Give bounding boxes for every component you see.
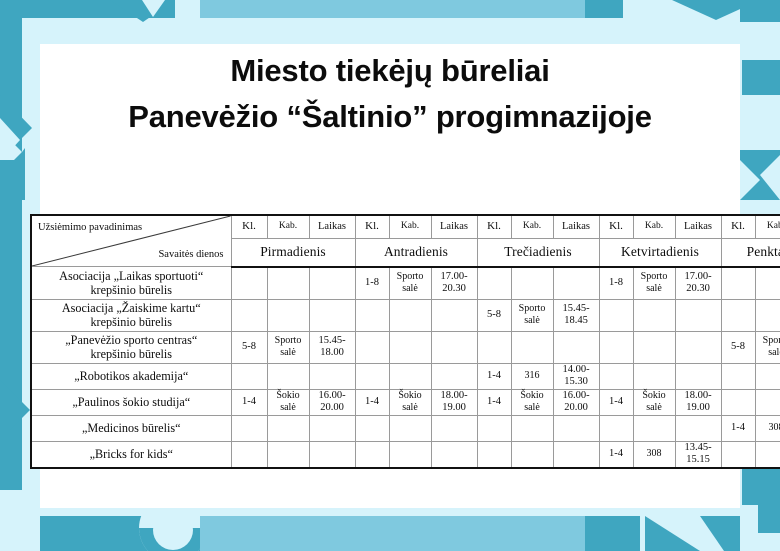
cell-kl-day4 [599, 415, 633, 441]
table-head: Užsiėmimo pavadinimas Savaitės dienos Kl… [31, 215, 780, 267]
title-line-1: Miesto tiekėjų būreliai [40, 48, 740, 94]
time-start: 17.00- [676, 271, 721, 284]
subheader-kab-ketvirtadienis: Kab. [633, 215, 675, 238]
subheader-kab-penktadienis: Kab. [755, 215, 780, 238]
cell-kab-day5: 308 [755, 415, 780, 441]
time-end: 18.45 [554, 315, 599, 328]
table-row: Asociacija „Žaiskime kartu“krepšinio būr… [31, 299, 780, 331]
subheader-kl-treciadienis: Kl. [477, 215, 511, 238]
slide: Miesto tiekėjų būreliai Panevėžio “Šalti… [0, 0, 780, 551]
time-end: 20.30 [676, 283, 721, 296]
cell-kl-day4: 1-8 [599, 267, 633, 300]
cell-kl-day3 [477, 441, 511, 468]
subheader-laikas-antradienis: Laikas [431, 215, 477, 238]
cell-kab-day1 [267, 363, 309, 389]
cell-kab-day4: Šokiosalė [633, 389, 675, 415]
activity-name-line: „Paulinos šokio studija“ [32, 395, 231, 409]
cell-kl-day2 [355, 331, 389, 363]
cell-laikas-day2: 18.00-19.00 [431, 389, 477, 415]
cell-kl-day5: 1-4 [721, 415, 755, 441]
activity-name-line: krepšinio būrelis [32, 315, 231, 329]
cell-kab-day1 [267, 267, 309, 300]
subheader-laikas-ketvirtadienis: Laikas [675, 215, 721, 238]
cell-kl-day5 [721, 299, 755, 331]
time-start: 18.00- [432, 390, 477, 403]
time-end: 15.30 [554, 376, 599, 389]
cell-kab-day5 [755, 389, 780, 415]
cell-laikas-day1 [309, 299, 355, 331]
corner-label-weekdays: Savaitės dienos [158, 249, 223, 261]
cell-kl-day3 [477, 267, 511, 300]
activity-name-line: „Bricks for kids“ [32, 447, 231, 461]
activity-name-line: „Medicinos būrelis“ [32, 421, 231, 435]
time-start: 15.45- [310, 335, 355, 348]
cell-kab-day1 [267, 299, 309, 331]
page-title: Miesto tiekėjų būreliai Panevėžio “Šalti… [40, 48, 740, 140]
room-line: Šokio [268, 390, 309, 403]
cell-laikas-day4: 17.00-20.30 [675, 267, 721, 300]
title-line-2: Panevėžio “Šaltinio” progimnazijoje [40, 94, 740, 140]
activity-name-cell: Asociacija „Laikas sportuoti“krepšinio b… [31, 267, 231, 300]
cell-kl-day1 [231, 415, 267, 441]
cell-kl-day5: 5-8 [721, 331, 755, 363]
activity-name-cell: „Paulinos šokio studija“ [31, 389, 231, 415]
cell-kab-day3 [511, 331, 553, 363]
room-line: Šokio [634, 390, 675, 403]
activity-name-line: Asociacija „Laikas sportuoti“ [32, 269, 231, 283]
cell-kab-day5: Sportosalė [755, 331, 780, 363]
room-line: Sporto [756, 335, 780, 348]
table-row: „Panevėžio sporto centras“krepšinio būre… [31, 331, 780, 363]
room-line: Šokio [390, 390, 431, 403]
cell-laikas-day2: 17.00-20.30 [431, 267, 477, 300]
room-line: salė [268, 402, 309, 415]
subheader-kab-antradienis: Kab. [389, 215, 431, 238]
cell-kab-day4: 308 [633, 441, 675, 468]
subheader-kab-pirmadienis: Kab. [267, 215, 309, 238]
cell-laikas-day1 [309, 363, 355, 389]
cell-kl-day1 [231, 363, 267, 389]
cell-kl-day3 [477, 331, 511, 363]
cell-kl-day4 [599, 363, 633, 389]
cell-kl-day1 [231, 441, 267, 468]
time-end: 20.30 [432, 283, 477, 296]
table-body: Asociacija „Laikas sportuoti“krepšinio b… [31, 267, 780, 468]
cell-kab-day5 [755, 363, 780, 389]
cell-laikas-day3 [553, 441, 599, 468]
cell-kab-day5 [755, 299, 780, 331]
cell-laikas-day4 [675, 415, 721, 441]
cell-kl-day5 [721, 389, 755, 415]
cell-kab-day2 [389, 441, 431, 468]
cell-kab-day3 [511, 415, 553, 441]
cell-kab-day4 [633, 363, 675, 389]
time-end: 15.15 [676, 454, 721, 467]
activity-name-cell: „Panevėžio sporto centras“krepšinio būre… [31, 331, 231, 363]
time-end: 19.00 [676, 402, 721, 415]
cell-kab-day4 [633, 331, 675, 363]
activity-name-cell: „Robotikos akademija“ [31, 363, 231, 389]
cell-laikas-day4 [675, 299, 721, 331]
table-row: „Robotikos akademija“1-431614.00-15.30 [31, 363, 780, 389]
activity-name-cell: „Bricks for kids“ [31, 441, 231, 468]
cell-kab-day2: Sportosalė [389, 267, 431, 300]
cell-kl-day4: 1-4 [599, 441, 633, 468]
cell-kab-day4 [633, 299, 675, 331]
cell-kl-day3: 1-4 [477, 389, 511, 415]
cell-kab-day1: Šokiosalė [267, 389, 309, 415]
room-line: Sporto [268, 335, 309, 348]
room-line: salė [634, 283, 675, 296]
room-line: Sporto [390, 271, 431, 284]
cell-kl-day2 [355, 299, 389, 331]
activity-name-line: krepšinio būrelis [32, 347, 231, 361]
cell-kab-day2 [389, 363, 431, 389]
cell-kl-day1: 1-4 [231, 389, 267, 415]
cell-laikas-day4: 18.00-19.00 [675, 389, 721, 415]
table-row: „Paulinos šokio studija“1-4Šokiosalė16.0… [31, 389, 780, 415]
dayname-antradienis: Antradienis [355, 238, 477, 266]
time-start: 15.45- [554, 303, 599, 316]
subheader-kl-penktadienis: Kl. [721, 215, 755, 238]
dayname-treciadienis: Trečiadienis [477, 238, 599, 266]
cell-kl-day5 [721, 363, 755, 389]
cell-kab-day2 [389, 415, 431, 441]
activity-name-line: „Panevėžio sporto centras“ [32, 333, 231, 347]
subheader-laikas-pirmadienis: Laikas [309, 215, 355, 238]
cell-kl-day2: 1-4 [355, 389, 389, 415]
cell-kl-day2 [355, 415, 389, 441]
cell-kl-day4 [599, 331, 633, 363]
cell-kl-day4: 1-4 [599, 389, 633, 415]
cell-kl-day3 [477, 415, 511, 441]
cell-laikas-day1: 16.00-20.00 [309, 389, 355, 415]
cell-laikas-day4 [675, 363, 721, 389]
cell-laikas-day2 [431, 331, 477, 363]
cell-kab-day3: Sportosalė [511, 299, 553, 331]
cell-kab-day1 [267, 415, 309, 441]
time-start: 17.00- [432, 271, 477, 284]
table-row: „Medicinos būrelis“1-430813.45-15.15 [31, 415, 780, 441]
time-end: 19.00 [432, 402, 477, 415]
subheader-kl-ketvirtadienis: Kl. [599, 215, 633, 238]
cell-kl-day5 [721, 267, 755, 300]
cell-kab-day3 [511, 441, 553, 468]
cell-kab-day3: Šokiosalė [511, 389, 553, 415]
cell-laikas-day3 [553, 331, 599, 363]
cell-laikas-day2 [431, 441, 477, 468]
time-start: 16.00- [554, 390, 599, 403]
cell-kab-day3: 316 [511, 363, 553, 389]
cell-laikas-day3: 15.45-18.45 [553, 299, 599, 331]
cell-kl-day2 [355, 363, 389, 389]
cell-laikas-day2 [431, 415, 477, 441]
time-start: 14.00- [554, 364, 599, 377]
cell-kl-day5 [721, 441, 755, 468]
room-line: Šokio [512, 390, 553, 403]
cell-kl-day2: 1-8 [355, 267, 389, 300]
activity-name-line: Asociacija „Žaiskime kartu“ [32, 301, 231, 315]
activity-name-line: „Robotikos akademija“ [32, 369, 231, 383]
cell-kab-day1 [267, 441, 309, 468]
corner-header-cell: Užsiėmimo pavadinimas Savaitės dienos [31, 215, 231, 267]
time-end: 18.00 [310, 347, 355, 360]
cell-kl-day2 [355, 441, 389, 468]
room-line: salė [634, 402, 675, 415]
cell-laikas-day2 [431, 299, 477, 331]
dayname-ketvirtadienis: Ketvirtadienis [599, 238, 721, 266]
cell-laikas-day1: 15.45-18.00 [309, 331, 355, 363]
corner-label-activity: Užsiėmimo pavadinimas [38, 222, 142, 234]
cell-laikas-day3: 16.00-20.00 [553, 389, 599, 415]
room-line: salė [512, 315, 553, 328]
cell-kl-day3: 1-4 [477, 363, 511, 389]
subheader-kl-pirmadienis: Kl. [231, 215, 267, 238]
cell-kab-day2: Šokiosalė [389, 389, 431, 415]
room-line: Sporto [512, 303, 553, 316]
cell-laikas-day3: 14.00-15.30 [553, 363, 599, 389]
cell-kab-day5 [755, 441, 780, 468]
cell-laikas-day2 [431, 363, 477, 389]
activity-name-cell: „Medicinos būrelis“ [31, 415, 231, 441]
time-end: 20.00 [554, 402, 599, 415]
room-line: salė [268, 347, 309, 360]
cell-laikas-day1 [309, 441, 355, 468]
schedule-table-container: Užsiėmimo pavadinimas Savaitės dienos Kl… [30, 214, 752, 469]
activity-name-line: krepšinio būrelis [32, 283, 231, 297]
cell-laikas-day4: 13.45-15.15 [675, 441, 721, 468]
room-line: salė [756, 347, 780, 360]
schedule-table: Užsiėmimo pavadinimas Savaitės dienos Kl… [30, 214, 780, 469]
cell-kab-day4: Sportosalė [633, 267, 675, 300]
cell-kab-day2 [389, 299, 431, 331]
header-row-subcolumns: Užsiėmimo pavadinimas Savaitės dienos Kl… [31, 215, 780, 238]
cell-kab-day2 [389, 331, 431, 363]
room-line: salė [390, 283, 431, 296]
subheader-laikas-treciadienis: Laikas [553, 215, 599, 238]
cell-kab-day1: Sportosalė [267, 331, 309, 363]
dayname-penktadienis: Penktadienis [721, 238, 780, 266]
room-line: Sporto [634, 271, 675, 284]
cell-kl-day4 [599, 299, 633, 331]
time-start: 18.00- [676, 390, 721, 403]
table-row: „Bricks for kids“1-430813.45-15.15 [31, 441, 780, 468]
activity-name-cell: Asociacija „Žaiskime kartu“krepšinio būr… [31, 299, 231, 331]
cell-laikas-day3 [553, 267, 599, 300]
cell-kl-day3: 5-8 [477, 299, 511, 331]
time-start: 13.45- [676, 442, 721, 455]
room-line: salė [512, 402, 553, 415]
cell-laikas-day4 [675, 331, 721, 363]
room-line: salė [390, 402, 431, 415]
cell-kl-day1: 5-8 [231, 331, 267, 363]
cell-kab-day4 [633, 415, 675, 441]
subheader-kab-treciadienis: Kab. [511, 215, 553, 238]
dayname-pirmadienis: Pirmadienis [231, 238, 355, 266]
cell-laikas-day1 [309, 415, 355, 441]
time-start: 16.00- [310, 390, 355, 403]
cell-laikas-day1 [309, 267, 355, 300]
cell-kab-day5 [755, 267, 780, 300]
cell-kl-day1 [231, 299, 267, 331]
table-row: Asociacija „Laikas sportuoti“krepšinio b… [31, 267, 780, 300]
time-end: 20.00 [310, 402, 355, 415]
subheader-kl-antradienis: Kl. [355, 215, 389, 238]
cell-kl-day1 [231, 267, 267, 300]
cell-laikas-day3 [553, 415, 599, 441]
cell-kab-day3 [511, 267, 553, 300]
